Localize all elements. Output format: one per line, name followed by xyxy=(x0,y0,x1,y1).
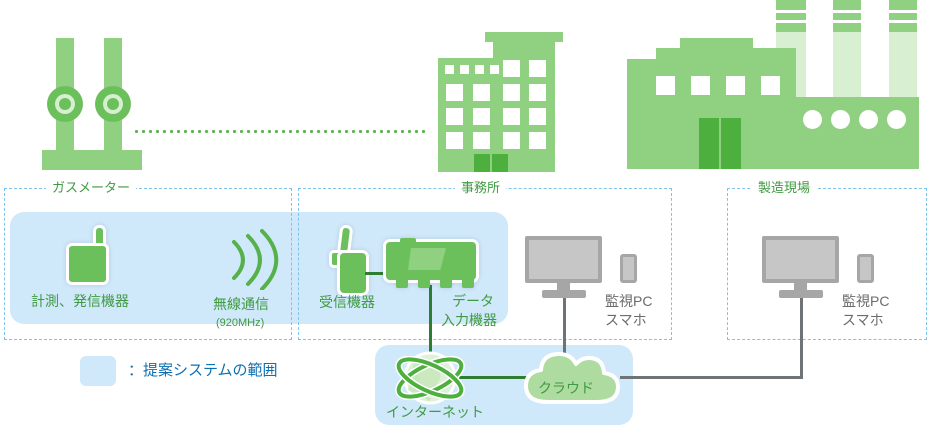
link-plant-monitor xyxy=(800,293,803,379)
proposed-system-scope-swatch xyxy=(80,356,116,386)
zone-manufacturing-label: 製造現場 xyxy=(752,181,816,195)
wireless-dotted-link xyxy=(133,130,425,133)
monitor-icon xyxy=(762,236,842,294)
gas-meter-illustration-icon xyxy=(42,38,162,170)
monitor-office-label-line1: 監視PC xyxy=(605,293,652,310)
smartphone-icon xyxy=(620,254,637,283)
zone-office-label: 事務所 xyxy=(455,181,506,195)
wireless-signal-icon xyxy=(222,228,282,290)
data-input-device-icon xyxy=(386,238,480,290)
sensor-label: 計測、発信機器 xyxy=(31,293,129,310)
cloud-label: クラウド xyxy=(538,380,594,397)
cloud-icon xyxy=(522,348,626,410)
wireless-sublabel: (920MHz) xyxy=(216,316,264,330)
receiver-radio-icon xyxy=(328,228,380,290)
globe-internet-icon xyxy=(392,350,468,410)
wireless-label: 無線通信 xyxy=(213,296,269,313)
legend-label: ：提案システムの範囲 xyxy=(128,362,278,380)
zone-gas-meter-label: ガスメーター xyxy=(46,181,136,195)
data-input-label-line2: 入力機器 xyxy=(441,312,497,329)
link-cloud-plant xyxy=(620,376,803,379)
office-building-icon xyxy=(433,32,558,172)
smartphone-icon xyxy=(857,254,874,283)
monitor-office-label-line2: スマホ xyxy=(605,312,647,329)
sensor-transmitter-icon xyxy=(66,228,114,286)
monitor-icon xyxy=(525,236,605,294)
factory-icon xyxy=(613,0,923,172)
receiver-label: 受信機器 xyxy=(319,294,375,311)
internet-label: インターネット xyxy=(386,404,484,421)
monitor-plant-label-line2: スマホ xyxy=(842,312,884,329)
data-input-label-line1: データ xyxy=(452,293,494,310)
monitor-plant-label-line1: 監視PC xyxy=(842,293,889,310)
diagram-canvas: ガスメーター 事務所 製造現場 計測、発信機器 無線通信 (920MHz) 受信… xyxy=(0,0,943,438)
